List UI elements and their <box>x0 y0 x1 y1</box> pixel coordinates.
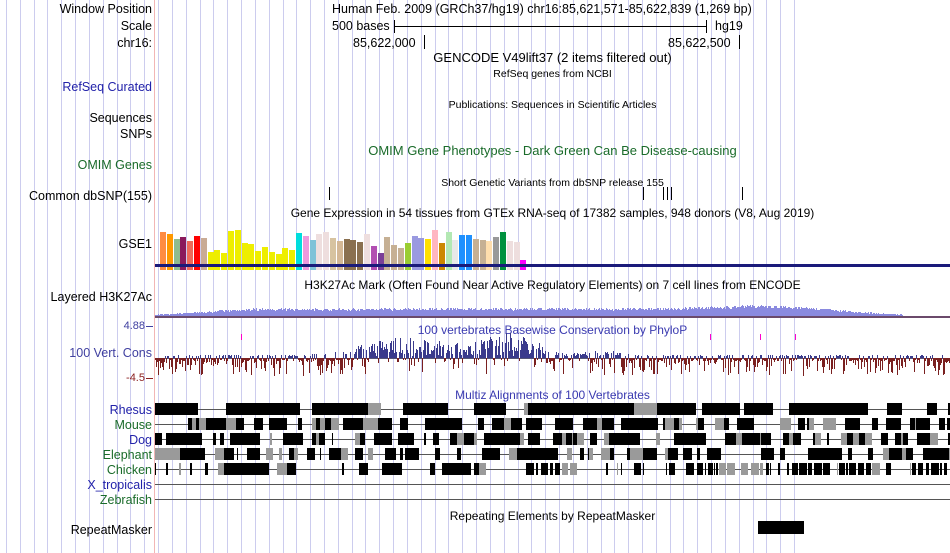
conservation-bar-negative <box>221 358 222 360</box>
conservation-bar-negative <box>909 358 910 361</box>
conservation-bar-negative <box>604 358 605 375</box>
track-label-common-dbsnp[interactable]: Common dbSNP(155) <box>0 190 152 203</box>
multiz-align-block <box>205 463 208 475</box>
conservation-bar-negative <box>368 358 369 362</box>
multiz-row[interactable] <box>155 418 950 430</box>
ruler-tick-right <box>739 35 740 49</box>
multiz-align-block <box>727 463 735 475</box>
dbsnp-tick[interactable] <box>643 187 644 200</box>
conservation-bar-positive <box>518 340 519 358</box>
multiz-align-block <box>262 463 269 475</box>
h3k27ac-wiggle[interactable] <box>155 296 950 318</box>
conservation-bar-negative <box>274 358 275 376</box>
multiz-align-block <box>497 448 500 460</box>
conservation-bar-negative <box>841 358 842 360</box>
conservation-bar-negative <box>818 358 819 361</box>
ruler-coord-left: 85,622,000 <box>353 37 416 50</box>
multiz-align-block <box>799 463 807 475</box>
multiz-align-block <box>368 448 373 460</box>
conservation-bar-negative <box>679 358 680 362</box>
conservation-bar-negative <box>195 358 196 365</box>
track-label-refseq-curated[interactable]: RefSeq Curated <box>0 81 152 94</box>
genome-browser: Window Position Scale chr16: Human Feb. … <box>0 0 950 553</box>
multiz-align-block <box>719 463 726 475</box>
conservation-bar-negative <box>494 358 495 365</box>
conservation-bar-negative <box>249 358 250 360</box>
species-label-zebrafish[interactable]: Zebrafish <box>0 494 152 507</box>
multiz-align-block <box>540 448 547 460</box>
conservation-bar-negative <box>177 358 178 362</box>
multiz-align-block <box>504 418 511 430</box>
conservation-bar-negative <box>504 358 505 366</box>
track-label-snps[interactable]: SNPs <box>0 128 152 141</box>
multiz-align-block <box>456 418 462 430</box>
multiz-align-block <box>228 418 236 430</box>
multiz-align-block <box>705 403 729 415</box>
multiz-align-block <box>851 418 860 430</box>
multiz-align-block <box>887 403 902 415</box>
conservation-bar-negative <box>612 358 613 360</box>
multiz-align-block <box>333 448 341 460</box>
multiz-align-block <box>848 448 852 460</box>
multiz-align-block <box>581 448 584 460</box>
multiz-align-block <box>484 403 506 415</box>
multiz-align-block <box>413 448 419 460</box>
conservation-bar-negative <box>268 358 269 361</box>
conservation-bar-negative <box>561 358 562 360</box>
multiz-align-block <box>865 433 872 445</box>
conservation-bar-negative <box>353 358 354 360</box>
conservation-bar-negative <box>554 358 555 371</box>
multiz-align-block <box>669 463 675 475</box>
dbsnp-tick[interactable] <box>663 187 664 200</box>
conservation-bar-negative <box>256 358 257 368</box>
multiz-align-block <box>201 433 202 445</box>
conservation-bar-negative <box>699 358 700 365</box>
conservation-bar-negative <box>547 358 548 363</box>
multiz-align-block <box>770 403 773 415</box>
conservation-wiggle[interactable] <box>155 332 950 382</box>
multiz-align-block <box>809 418 814 430</box>
conservation-bar-negative <box>218 358 219 363</box>
conservation-bar-negative <box>899 358 900 370</box>
multiz-align-block <box>621 463 622 475</box>
conservation-bar-negative <box>572 358 573 368</box>
conservation-bar-negative <box>941 358 942 363</box>
repeat-element-block[interactable] <box>758 521 804 534</box>
conservation-bar-negative <box>435 358 436 363</box>
multiz-align-block <box>430 463 435 475</box>
conservation-bar-negative <box>747 358 748 367</box>
multiz-align-block <box>523 448 531 460</box>
multiz-align-block <box>697 433 706 445</box>
multiz-align-block <box>279 448 282 460</box>
multiz-align-block <box>906 448 913 460</box>
gtex-expression-chart[interactable] <box>0 222 950 270</box>
multiz-align-block <box>511 418 520 430</box>
multiz-align-block <box>405 448 413 460</box>
conservation-bar-positive <box>413 341 414 358</box>
conservation-bar-negative <box>209 358 210 362</box>
multiz-align-block <box>399 433 406 445</box>
multiz-align-block <box>256 448 260 460</box>
multiz-align-block <box>683 448 692 460</box>
multiz-align-block <box>282 403 300 415</box>
multiz-align-block <box>617 463 618 475</box>
multiz-align-block <box>817 448 826 460</box>
conservation-bar-negative <box>897 358 898 375</box>
track-title-h3k27ac: H3K27Ac Mark (Often Found Near Active Re… <box>155 279 950 291</box>
conservation-bar-negative <box>785 358 786 374</box>
multiz-align-block <box>425 433 426 445</box>
gtex-baseline <box>155 264 950 267</box>
track-title-dbsnp: Short Genetic Variants from dbSNP releas… <box>155 177 950 189</box>
conservation-bar-negative <box>414 358 415 366</box>
conservation-bar-negative <box>602 358 603 369</box>
multiz-align-block <box>170 433 178 445</box>
multiz-align-block <box>363 418 371 430</box>
conservation-bar-positive <box>536 349 537 358</box>
multiz-align-block <box>916 418 923 430</box>
conservation-bar-negative <box>235 358 236 367</box>
multiz-align-block <box>868 448 873 460</box>
multiz-align-block <box>866 463 871 475</box>
multiz-align-block <box>179 403 198 415</box>
multiz-align-block <box>251 403 268 415</box>
multiz-align-block <box>707 448 714 460</box>
multiz-align-block <box>509 448 517 460</box>
conservation-bar-positive <box>417 350 418 358</box>
species-label-chicken[interactable]: Chicken <box>0 464 152 477</box>
gtex-bar[interactable] <box>214 250 220 270</box>
multiz-align-block <box>643 463 644 475</box>
multiz-align-block <box>782 448 785 460</box>
conservation-bar-negative <box>309 358 310 373</box>
multiz-align-block <box>687 433 696 445</box>
track-title-repeatmasker: Repeating Elements by RepeatMasker <box>155 510 950 522</box>
track-label-repeatmasker[interactable]: RepeatMasker <box>0 524 152 537</box>
conservation-bar-negative <box>501 358 502 360</box>
conservation-bar-negative <box>233 358 234 374</box>
multiz-align-block <box>427 418 435 430</box>
track-title-gencode: GENCODE V49lift37 (2 items filtered out) <box>155 52 950 64</box>
species-label-mouse[interactable]: Mouse <box>0 419 152 432</box>
multiz-align-block <box>656 433 660 445</box>
conservation-bar-negative <box>596 358 597 364</box>
conservation-bar-negative <box>627 358 628 360</box>
multiz-align-block <box>577 433 584 445</box>
species-label-dog[interactable]: Dog <box>0 434 152 447</box>
multiz-align-block <box>528 403 540 415</box>
multiz-align-block <box>395 463 402 475</box>
multiz-align-block <box>881 433 888 445</box>
conservation-bar-negative <box>365 358 366 374</box>
multiz-align-block <box>420 403 435 415</box>
conservation-bar-negative <box>398 358 399 362</box>
cons-axis-min: -4.5 <box>0 372 145 385</box>
multiz-align-block <box>294 448 298 460</box>
multiz-align-block <box>166 403 179 415</box>
multiz-row[interactable] <box>155 403 950 415</box>
assembly-db-text: hg19 <box>715 20 743 33</box>
conservation-bar-positive <box>473 351 474 358</box>
conservation-bar-negative <box>594 358 595 362</box>
multiz-row[interactable] <box>155 448 950 460</box>
track-title-publications: Publications: Sequences in Scientific Ar… <box>155 99 950 111</box>
multiz-align-block <box>220 433 224 445</box>
multiz-align-block <box>359 463 368 475</box>
dbsnp-tick[interactable] <box>671 187 672 200</box>
conservation-bar-positive <box>475 342 476 358</box>
conservation-bar-negative <box>867 358 868 374</box>
scale-bar <box>394 26 707 27</box>
conservation-bar-negative <box>870 358 871 372</box>
multiz-align-block <box>275 418 283 430</box>
gtex-bar[interactable] <box>221 253 227 270</box>
multiz-align-block <box>872 418 878 430</box>
conservation-bar-negative <box>519 358 520 361</box>
conservation-bar-negative <box>794 358 795 360</box>
multiz-align-block <box>744 403 770 415</box>
conservation-bar-negative <box>418 358 419 362</box>
conservation-bar-negative <box>813 358 814 360</box>
ruler-tick-left <box>424 35 425 49</box>
conservation-bar-negative <box>664 358 665 363</box>
multiz-align-block <box>728 433 736 445</box>
multiz-align-block <box>275 403 282 415</box>
multiz-align-block <box>903 433 908 445</box>
multiz-align-block <box>406 433 414 445</box>
multiz-align-block <box>944 463 947 475</box>
multiz-align-block <box>561 403 577 415</box>
conservation-bar-negative <box>411 358 412 365</box>
multiz-row[interactable] <box>155 493 950 505</box>
multiz-align-block <box>155 403 166 415</box>
conservation-highlight-tick <box>795 334 796 340</box>
conservation-bar-negative <box>535 358 536 365</box>
multiz-align-block <box>270 433 272 445</box>
multiz-align-block <box>352 403 368 415</box>
multiz-align-block <box>931 463 939 475</box>
multiz-align-block <box>657 403 665 415</box>
conservation-bar-negative <box>919 358 920 363</box>
multiz-align-block <box>741 463 748 475</box>
conservation-bar-negative <box>537 358 538 360</box>
multiz-align-block <box>173 448 180 460</box>
multiz-align-block <box>320 448 321 460</box>
conservation-bar-negative <box>914 358 915 372</box>
conservation-bar-negative <box>405 358 406 360</box>
conservation-bar-negative <box>783 358 784 374</box>
conservation-bar-negative <box>693 358 694 360</box>
gtex-bar[interactable] <box>255 251 261 270</box>
conservation-bar-negative <box>207 358 208 362</box>
dbsnp-tick[interactable] <box>667 187 668 200</box>
multiz-align-block <box>923 418 930 430</box>
multiz-align-block <box>698 418 704 430</box>
track-label-sequences[interactable]: Sequences <box>0 112 152 125</box>
multiz-align-block <box>609 433 616 445</box>
conservation-bar-negative <box>725 358 726 368</box>
multiz-align-block <box>374 433 383 445</box>
multiz-align-block <box>236 418 244 430</box>
track-title-multiz: Multiz Alignments of 100 Vertebrates <box>155 389 950 401</box>
multiz-align-block <box>307 448 315 460</box>
multiz-align-block <box>439 418 448 430</box>
multiz-align-block <box>772 448 774 460</box>
conservation-bar-negative <box>378 358 379 363</box>
multiz-align-block <box>520 433 524 445</box>
multiz-align-block <box>531 433 540 445</box>
multiz-align-block <box>526 463 534 475</box>
multiz-align-block <box>923 448 931 460</box>
conservation-bar-negative <box>640 358 641 370</box>
multiz-align-block <box>244 433 252 445</box>
multiz-align-block <box>698 448 700 460</box>
multiz-align-block <box>400 448 403 460</box>
conservation-bar-negative <box>311 358 312 362</box>
multiz-row[interactable] <box>155 478 950 490</box>
multiz-align-block <box>531 448 540 460</box>
multiz-align-block <box>886 463 891 475</box>
scale-tick-left <box>394 20 395 33</box>
multiz-align-block <box>749 433 758 445</box>
multiz-align-block <box>553 448 558 460</box>
conservation-bar-negative <box>271 358 272 365</box>
track-label-omim-genes[interactable]: OMIM Genes <box>0 159 152 172</box>
conservation-bar-negative <box>829 358 830 370</box>
multiz-align-block <box>321 403 329 415</box>
conservation-bar-negative <box>662 358 663 361</box>
conservation-bar-positive <box>377 346 378 358</box>
conservation-bar-negative <box>824 358 825 367</box>
gtex-bar[interactable] <box>269 252 275 270</box>
multiz-align-block <box>669 403 684 415</box>
dbsnp-tick[interactable] <box>742 187 743 200</box>
conservation-bar-positive <box>434 346 435 358</box>
multiz-align-block <box>932 433 938 445</box>
conservation-bar-negative <box>807 358 808 369</box>
multiz-align-block <box>808 463 812 475</box>
conservation-bar-negative <box>769 358 770 375</box>
assembly-position-text: Human Feb. 2009 (GRCh37/hg19) chr16:85,6… <box>332 3 752 16</box>
conservation-bar-positive <box>545 351 546 358</box>
multiz-align-block <box>166 463 168 475</box>
multiz-row[interactable] <box>155 433 950 445</box>
multiz-align-block <box>837 463 838 475</box>
multiz-align-block <box>872 463 880 475</box>
conservation-bar-negative <box>199 358 200 374</box>
multiz-align-block <box>686 463 694 475</box>
conservation-bar-negative <box>507 358 508 361</box>
conservation-bar-negative <box>191 358 192 365</box>
gtex-bar[interactable] <box>289 250 295 270</box>
track-label-layered-h3k27ac[interactable]: Layered H3K27Ac <box>0 291 152 304</box>
multiz-align-block <box>940 463 942 475</box>
multiz-align-block <box>705 463 706 475</box>
multiz-align-block <box>831 418 836 430</box>
multiz-align-block <box>570 463 577 475</box>
conservation-bar-negative <box>323 358 324 361</box>
multiz-align-block <box>199 418 206 430</box>
multiz-align-block <box>224 463 231 475</box>
conservation-bar-negative <box>474 358 475 364</box>
multiz-align-block <box>155 448 164 460</box>
multiz-align-block <box>847 403 868 415</box>
scale-span-text: 500 bases <box>332 20 390 33</box>
multiz-align-block <box>634 403 657 415</box>
conservation-bar-negative <box>614 358 615 373</box>
species-label-rhesus[interactable]: Rhesus <box>0 404 152 417</box>
conservation-bar-negative <box>344 358 345 368</box>
conservation-bar-negative <box>357 358 358 360</box>
multiz-align-block <box>155 463 156 475</box>
conservation-bar-negative <box>342 358 343 374</box>
multiz-align-block <box>931 448 940 460</box>
conservation-bar-negative <box>476 358 477 365</box>
conservation-bar-negative <box>388 358 389 362</box>
species-label-elephant[interactable]: Elephant <box>0 449 152 462</box>
conservation-bar-negative <box>686 358 687 365</box>
multiz-align-block <box>605 418 614 430</box>
conservation-bar-negative <box>454 358 455 364</box>
conservation-bar-negative <box>450 358 451 360</box>
multiz-align-block <box>708 463 713 475</box>
dbsnp-tick[interactable] <box>329 187 330 200</box>
multiz-align-block <box>435 403 448 415</box>
conservation-bar-negative <box>781 358 782 361</box>
conservation-bar-negative <box>894 358 895 361</box>
track-label-100-vert-cons[interactable]: 100 Vert. Cons <box>0 347 152 360</box>
conservation-bar-negative <box>791 358 792 371</box>
multiz-align-block <box>371 418 378 430</box>
multiz-align-block <box>541 463 548 475</box>
conservation-bar-negative <box>570 358 571 360</box>
multiz-align-block <box>402 418 408 430</box>
multiz-align-block <box>814 463 822 475</box>
multiz-align-block <box>567 448 572 460</box>
multiz-align-block <box>190 463 192 475</box>
multiz-align-block <box>647 448 654 460</box>
conservation-bar-negative <box>293 358 294 361</box>
conservation-bar-negative <box>651 358 652 370</box>
multiz-align-block <box>562 463 568 475</box>
multiz-align-block <box>766 463 769 475</box>
conservation-bar-negative <box>775 358 776 360</box>
multiz-align-block <box>558 418 566 430</box>
conservation-bar-positive <box>492 341 493 358</box>
multiz-align-block <box>614 403 629 415</box>
multiz-align-block <box>679 418 682 430</box>
conservation-bar-negative <box>251 358 252 375</box>
conservation-bar-positive <box>540 350 541 358</box>
multiz-align-block <box>684 403 696 415</box>
multiz-align-block <box>601 448 610 460</box>
multiz-row[interactable] <box>155 463 950 475</box>
multiz-align-block <box>268 403 275 415</box>
conservation-bar-negative <box>478 358 479 360</box>
multiz-align-block <box>742 433 749 445</box>
multiz-align-block <box>360 448 363 460</box>
multiz-align-block <box>834 448 842 460</box>
conservation-bar-negative <box>803 358 804 376</box>
multiz-align-block <box>342 463 344 475</box>
multiz-align-block <box>312 403 321 415</box>
multiz-align-block <box>520 418 522 430</box>
conservation-bar-negative <box>755 358 756 367</box>
species-label-x-tropicalis[interactable]: X_tropicalis <box>0 479 152 492</box>
conservation-bar-negative <box>759 358 760 362</box>
